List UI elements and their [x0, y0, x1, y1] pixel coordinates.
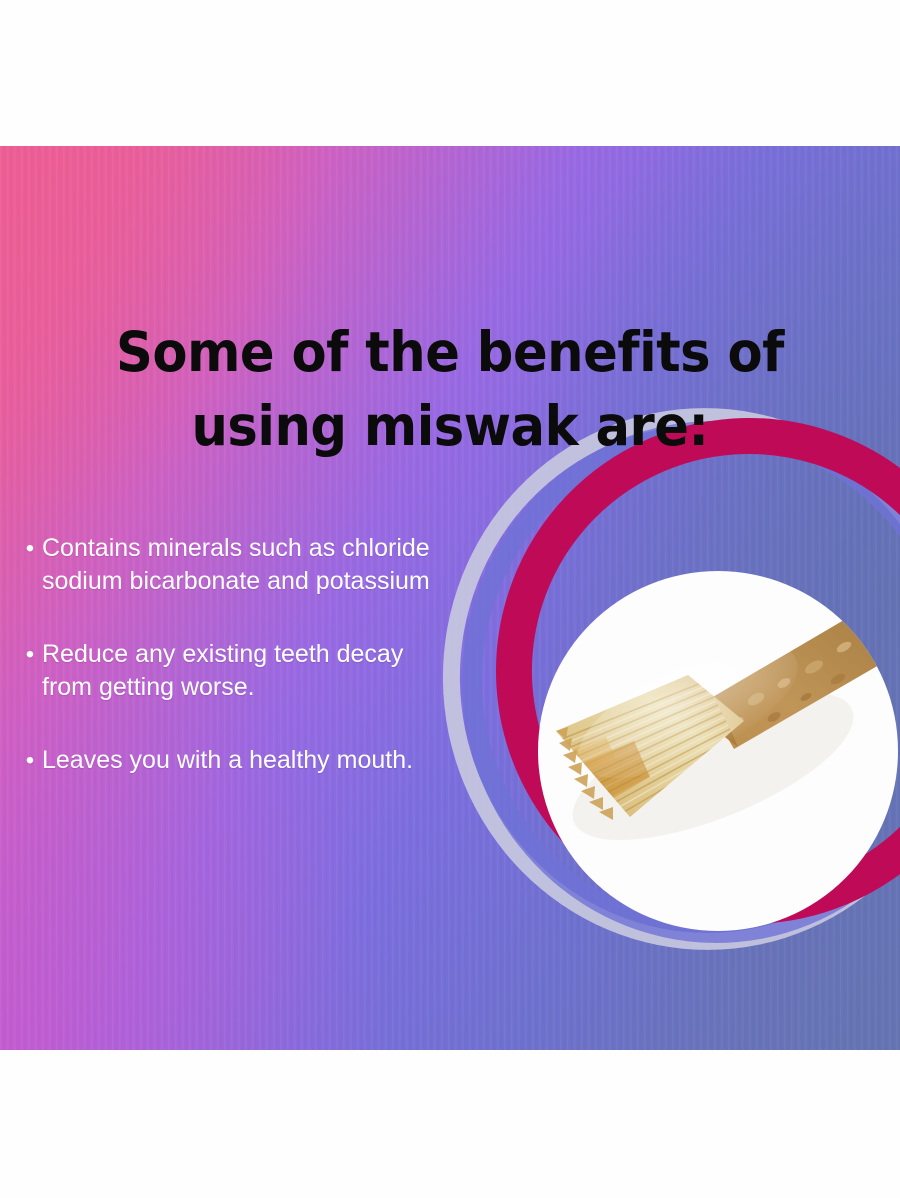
page-root: Some of the benefits of using miswak are… [0, 0, 900, 1198]
slide-panel: Some of the benefits of using miswak are… [0, 146, 900, 1050]
bullet-item-1: • Contains minerals such as chloride sod… [18, 532, 538, 598]
bullet-dot-icon: • [18, 532, 42, 565]
slide-heading: Some of the benefits of using miswak are… [32, 315, 869, 463]
benefits-bullet-list: • Contains minerals such as chloride sod… [18, 532, 538, 777]
bullet-item-3: • Leaves you with a healthy mouth. [18, 744, 538, 777]
bullet-dot-icon: • [18, 744, 42, 777]
bullet-text-2: Reduce any existing teeth decay from get… [42, 638, 538, 704]
bullet-text-3: Leaves you with a healthy mouth. [42, 744, 538, 777]
bullet-item-2: • Reduce any existing teeth decay from g… [18, 638, 538, 704]
bullet-text-1: Contains minerals such as chloride sodiu… [42, 532, 538, 598]
bullet-dot-icon: • [18, 638, 42, 671]
